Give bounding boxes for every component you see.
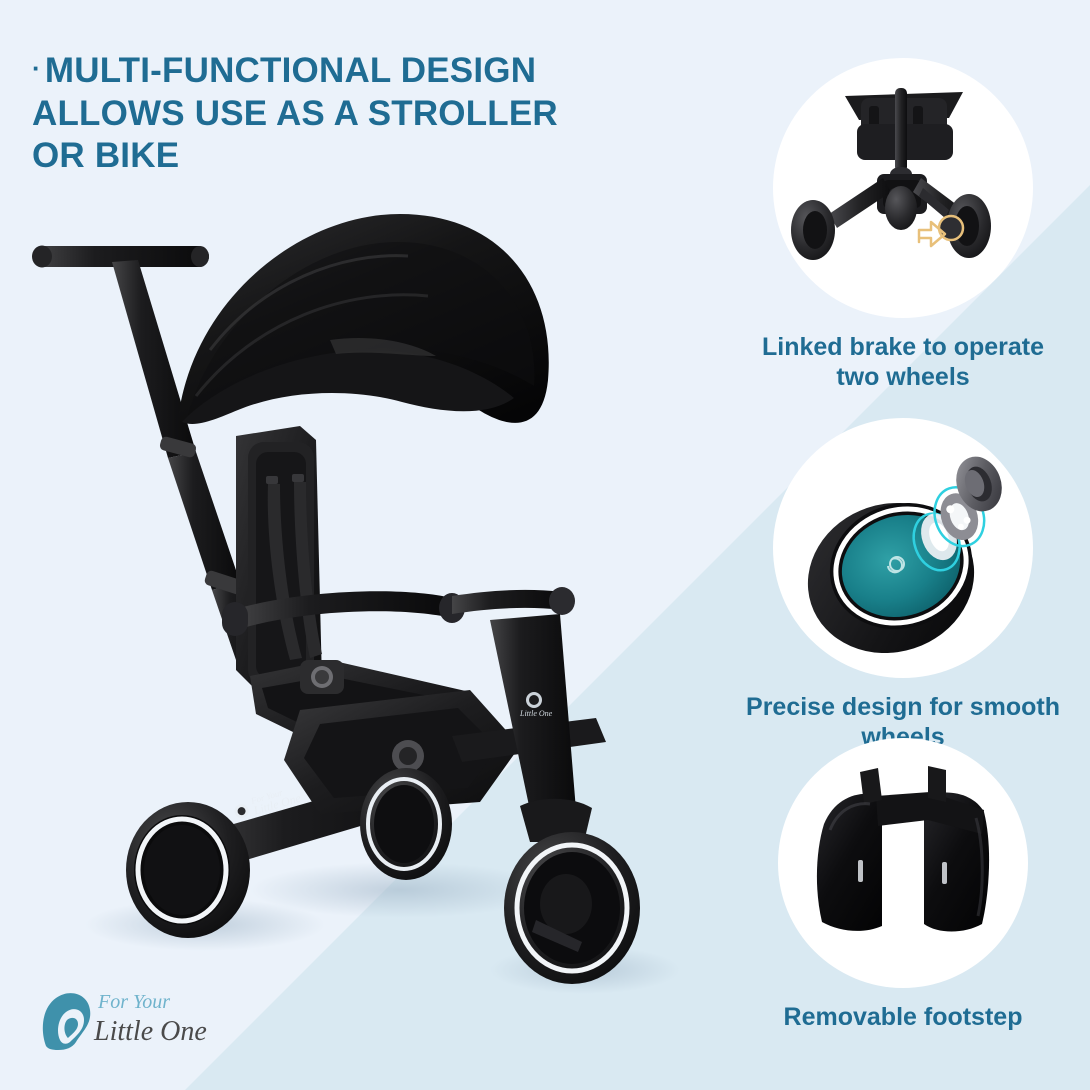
rear-wheel-left	[126, 802, 250, 938]
brand-logo: For Your Little One	[32, 980, 222, 1058]
headline-text: MULTI-FUNCTIONAL DESIGN ALLOWS USE AS A …	[32, 51, 558, 175]
logo-line-1: For Your	[97, 991, 170, 1013]
bullet-point: ·	[32, 53, 41, 83]
callout-smooth-wheels-alt: Teal wheel with white rim ring and explo…	[773, 418, 774, 419]
callout-smooth-wheels: Teal wheel with white rim ring and explo…	[738, 418, 1068, 752]
product-infographic: ·MULTI-FUNCTIONAL DESIGN ALLOWS USE AS A…	[0, 0, 1090, 1090]
callout-linked-brake: Underside of stroller chassis showing li…	[738, 58, 1068, 392]
rear-wheel-right	[360, 768, 452, 880]
callout-removable-footstep-caption: Removable footstep	[738, 1002, 1068, 1032]
callout-removable-footstep-image: Black U-shaped removable plastic footste…	[778, 738, 1028, 988]
callout-linked-brake-image: Underside of stroller chassis showing li…	[773, 58, 1033, 318]
mother-and-baby-icon	[43, 993, 90, 1050]
callout-smooth-wheels-image: Teal wheel with white rim ring and explo…	[773, 418, 1033, 678]
callout-removable-footstep: Black U-shaped removable plastic footste…	[738, 738, 1068, 1032]
callout-linked-brake-caption: Linked brake to operate two wheels	[738, 332, 1068, 392]
canopy	[178, 214, 549, 424]
front-wheel	[504, 799, 640, 984]
svg-text:Little One: Little One	[519, 709, 553, 718]
callout-removable-footstep-alt: Black U-shaped removable plastic footste…	[778, 738, 779, 739]
headline: ·MULTI-FUNCTIONAL DESIGN ALLOWS USE AS A…	[32, 50, 592, 178]
product-image: Black convertible stroller trike with T-…	[0, 190, 700, 1050]
callout-linked-brake-alt: Underside of stroller chassis showing li…	[773, 58, 774, 59]
logo-line-2: Little One	[93, 1016, 207, 1047]
